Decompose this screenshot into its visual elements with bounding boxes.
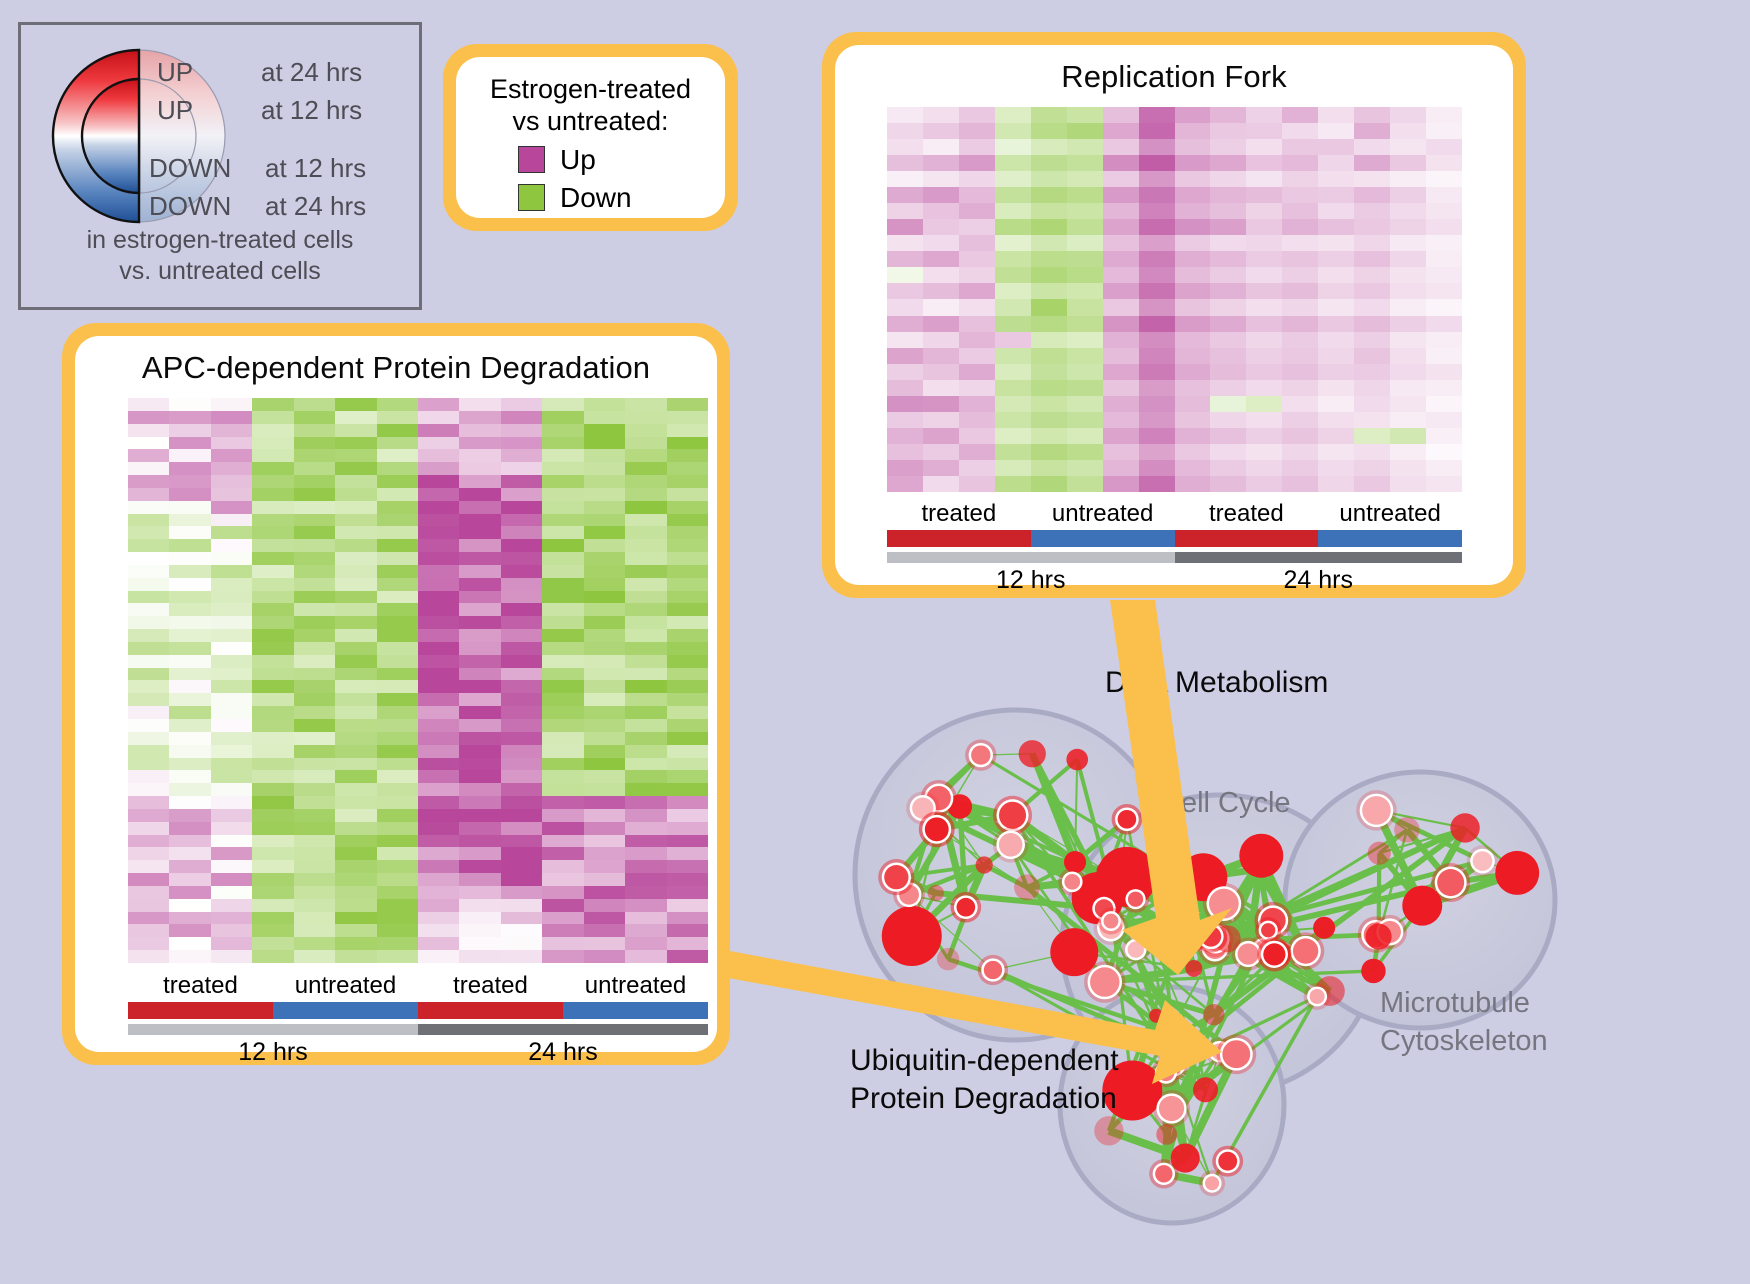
- heatmap-cell: [584, 526, 625, 539]
- heatmap-cell: [667, 835, 708, 848]
- heatmap-cell: [1210, 219, 1246, 235]
- network-node[interactable]: [1362, 796, 1391, 825]
- network-node[interactable]: [1251, 861, 1268, 878]
- heatmap-cell: [252, 924, 293, 937]
- heatmap-cell: [459, 860, 500, 873]
- heatmap-cell: [1246, 267, 1282, 283]
- timepoint-labels: 12 hrs 24 hrs: [887, 566, 1462, 595]
- heatmap-cell: [584, 616, 625, 629]
- heatmap-cell: [625, 514, 666, 527]
- heatmap-cell: [1031, 219, 1067, 235]
- heatmap-cell: [294, 411, 335, 424]
- heatmap-cell: [995, 267, 1031, 283]
- heatmap-cell: [1318, 219, 1354, 235]
- heatmap-cell: [1139, 348, 1175, 364]
- heatmap-cell: [1175, 412, 1211, 428]
- heatmap-cell: [1031, 476, 1067, 492]
- heatmap-cell: [294, 655, 335, 668]
- network-node[interactable]: [903, 920, 930, 947]
- network-node[interactable]: [1159, 1096, 1184, 1121]
- heatmap-cell: [667, 501, 708, 514]
- heatmap-cell: [335, 424, 376, 437]
- network-node[interactable]: [1394, 817, 1419, 842]
- heatmap-cell: [542, 860, 583, 873]
- heatmap-cell: [169, 526, 210, 539]
- heatmap-cell: [501, 449, 542, 462]
- heatmap-cell: [211, 847, 252, 860]
- network-node[interactable]: [976, 856, 993, 873]
- network-node[interactable]: [1366, 924, 1392, 950]
- network-node[interactable]: [971, 745, 990, 764]
- heatmap-cell: [418, 758, 459, 771]
- heatmap-cell: [1031, 123, 1067, 139]
- heatmap-cell: [1067, 203, 1103, 219]
- heatmap-cell: [418, 411, 459, 424]
- network-node[interactable]: [984, 961, 1002, 979]
- heatmap-cell: [1139, 219, 1175, 235]
- heatmap-cell: [335, 398, 376, 411]
- network-node[interactable]: [925, 817, 949, 841]
- network-node[interactable]: [1128, 941, 1144, 957]
- heatmap-cell: [1390, 219, 1426, 235]
- heatmap-cell: [1103, 299, 1139, 315]
- network-node[interactable]: [1155, 1035, 1173, 1053]
- heatmap-cell: [625, 860, 666, 873]
- network-node[interactable]: [1437, 869, 1464, 896]
- heatmap-cell: [959, 460, 995, 476]
- network-node[interactable]: [1361, 959, 1385, 983]
- heatmap-cell: [542, 501, 583, 514]
- heatmap-cell: [1318, 332, 1354, 348]
- heatmap-cell: [211, 398, 252, 411]
- heatmap-cell: [459, 693, 500, 706]
- heatmap-cell: [294, 822, 335, 835]
- network-node[interactable]: [1368, 842, 1391, 865]
- heatmap-cell: [667, 680, 708, 693]
- heatmap-cell: [1175, 299, 1211, 315]
- heatmap-cell: [377, 770, 418, 783]
- heatmap-cell: [211, 937, 252, 950]
- heatmap-cell: [252, 437, 293, 450]
- heatmap-cell: [1210, 396, 1246, 412]
- heatmap-cell: [1354, 203, 1390, 219]
- heatmap-cell: [584, 706, 625, 719]
- heatmap-cell: [377, 655, 418, 668]
- heatmap-cell: [211, 758, 252, 771]
- network-node[interactable]: [884, 865, 908, 889]
- heatmap-cell: [995, 123, 1031, 139]
- heatmap-cell: [128, 616, 169, 629]
- heatmap-cell: [1282, 460, 1318, 476]
- heatmap-cell: [584, 411, 625, 424]
- heatmap-cell: [459, 719, 500, 732]
- network-node[interactable]: [1128, 892, 1143, 907]
- heatmap-cell: [1175, 316, 1211, 332]
- heatmap-cell: [584, 886, 625, 899]
- heatmap-cell: [1354, 316, 1390, 332]
- heatmap-cell: [294, 539, 335, 552]
- heatmap-cell: [501, 591, 542, 604]
- network-node[interactable]: [1155, 1165, 1172, 1182]
- heatmap-cell: [294, 732, 335, 745]
- heatmap-cell: [887, 476, 923, 492]
- heatmap-cell: [584, 629, 625, 642]
- heatmap-cell: [667, 526, 708, 539]
- heatmap-cell: [1354, 107, 1390, 123]
- network-node[interactable]: [937, 948, 959, 970]
- heatmap-cell: [1282, 476, 1318, 492]
- heatmap-cell: [459, 924, 500, 937]
- timepoint-color-bar: [128, 1024, 708, 1035]
- heatmap-cell: [542, 770, 583, 783]
- heatmap-cell: [995, 332, 1031, 348]
- heatmap-cell: [1246, 155, 1282, 171]
- heatmap-cell: [667, 603, 708, 616]
- heatmap-cell: [1426, 444, 1462, 460]
- network-node[interactable]: [1222, 1040, 1250, 1068]
- heatmap-cell: [1246, 235, 1282, 251]
- heatmap-cell: [335, 693, 376, 706]
- heatmap-cell: [1103, 123, 1139, 139]
- heatmap-cell: [887, 283, 923, 299]
- network-node[interactable]: [1156, 1124, 1177, 1145]
- heatmap-cell: [995, 316, 1031, 332]
- heatmap-cell: [959, 412, 995, 428]
- heatmap-cell: [887, 203, 923, 219]
- network-node[interactable]: [1104, 914, 1119, 929]
- heatmap-cell: [294, 924, 335, 937]
- heatmap-cell: [625, 796, 666, 809]
- heatmap-cell: [1318, 460, 1354, 476]
- heatmap-cell: [1210, 380, 1246, 396]
- heatmap-cell: [252, 732, 293, 745]
- condition-labels: treated untreated treated untreated: [887, 500, 1462, 528]
- heatmap-cell: [959, 235, 995, 251]
- network-node[interactable]: [957, 898, 976, 917]
- heatmap-cell: [995, 396, 1031, 412]
- heatmap-cell: [1175, 235, 1211, 251]
- heatmap-cell: [335, 783, 376, 796]
- heatmap-cell: [887, 364, 923, 380]
- heatmap-cell: [542, 732, 583, 745]
- heatmap-cell: [1175, 364, 1211, 380]
- heatmap-cell: [542, 526, 583, 539]
- heatmap-cell: [1139, 171, 1175, 187]
- heatmap-cell: [1282, 348, 1318, 364]
- cluster-label-ubiquitin: Ubiquitin-dependent: [850, 1044, 1119, 1077]
- heatmap-cell: [1103, 283, 1139, 299]
- network-node[interactable]: [1238, 943, 1259, 964]
- condition-label-1: untreated: [1031, 500, 1175, 528]
- heatmap-cell: [211, 616, 252, 629]
- heatmap-cell: [169, 899, 210, 912]
- heatmap-cell: [459, 706, 500, 719]
- heatmap-cell: [211, 449, 252, 462]
- network-node[interactable]: [1064, 874, 1080, 890]
- network-node[interactable]: [999, 802, 1026, 829]
- heatmap-cell: [995, 187, 1031, 203]
- heatmap-cell: [584, 437, 625, 450]
- heatmap-cell: [459, 783, 500, 796]
- network-node[interactable]: [1293, 938, 1318, 963]
- heatmap-cell: [252, 745, 293, 758]
- heatmap-cell: [542, 899, 583, 912]
- heatmap-cell: [887, 316, 923, 332]
- heatmap-cell: [1390, 139, 1426, 155]
- network-node[interactable]: [1090, 967, 1119, 996]
- heatmap-cell: [1067, 251, 1103, 267]
- heatmap-cell: [542, 398, 583, 411]
- network-node[interactable]: [1019, 740, 1046, 767]
- heatmap-cell: [542, 668, 583, 681]
- heatmap-cell: [887, 267, 923, 283]
- condition-label-0: treated: [887, 500, 1031, 528]
- legend-key-down-label: Down: [560, 182, 632, 214]
- heatmap-cell: [418, 552, 459, 565]
- heatmap-cell: [1318, 364, 1354, 380]
- heatmap-cell: [1031, 155, 1067, 171]
- network-node[interactable]: [928, 885, 944, 901]
- network-node[interactable]: [1161, 871, 1181, 891]
- heatmap-cell: [294, 488, 335, 501]
- heatmap-cell: [294, 873, 335, 886]
- heatmap-cell: [1139, 187, 1175, 203]
- heatmap-cell: [1031, 235, 1067, 251]
- heatmap-cell: [584, 424, 625, 437]
- heatmap-cell: [625, 488, 666, 501]
- network-node[interactable]: [1149, 1009, 1163, 1023]
- network-node[interactable]: [1171, 1143, 1200, 1172]
- network-node[interactable]: [1473, 851, 1493, 871]
- heatmap-cell: [459, 539, 500, 552]
- heatmap-cell: [377, 462, 418, 475]
- heatmap-cell: [1175, 155, 1211, 171]
- heatmap-cell: [459, 398, 500, 411]
- heatmap-cell: [335, 924, 376, 937]
- heatmap-cell: [1067, 283, 1103, 299]
- heatmap-cell: [128, 462, 169, 475]
- network-node[interactable]: [1149, 929, 1177, 957]
- network-node[interactable]: [999, 833, 1023, 857]
- network-node[interactable]: [1313, 917, 1335, 939]
- heatmap-cell: [959, 187, 995, 203]
- heatmap-cell: [294, 899, 335, 912]
- heatmap-cell: [459, 873, 500, 886]
- heatmap-cell: [923, 348, 959, 364]
- heatmap-cell: [335, 680, 376, 693]
- heatmap-cell: [1282, 332, 1318, 348]
- heatmap-cell: [252, 822, 293, 835]
- heatmap-cell: [501, 758, 542, 771]
- network-node[interactable]: [1157, 1064, 1174, 1081]
- heatmap-cell: [887, 219, 923, 235]
- heatmap-cell: [1103, 155, 1139, 171]
- heatmap-cell: [377, 886, 418, 899]
- heatmap-cell: [1390, 235, 1426, 251]
- heatmap-cell: [584, 770, 625, 783]
- network-node[interactable]: [1193, 1077, 1218, 1102]
- heatmap-cell: [252, 860, 293, 873]
- heatmap-cell: [1318, 380, 1354, 396]
- network-node[interactable]: [1066, 749, 1088, 771]
- heatmap-cell: [542, 706, 583, 719]
- heatmap-cell: [1246, 428, 1282, 444]
- network-node[interactable]: [1185, 960, 1202, 977]
- heatmap-cell: [294, 475, 335, 488]
- heatmap-cell: [211, 565, 252, 578]
- heatmap-cell: [335, 629, 376, 642]
- heatmap-cell: [1103, 203, 1139, 219]
- heatmap-cell: [1426, 107, 1462, 123]
- heatmap-cell: [128, 822, 169, 835]
- heatmap-cell: [335, 950, 376, 963]
- network-node[interactable]: [1118, 810, 1137, 829]
- heatmap-cell: [377, 693, 418, 706]
- network-node[interactable]: [1014, 874, 1040, 900]
- legend-footer-line2: vs. untreated cells: [21, 256, 419, 287]
- network-node[interactable]: [1191, 1045, 1206, 1060]
- heatmap-cell: [335, 475, 376, 488]
- heatmap-cell: [459, 449, 500, 462]
- heatmap-cell: [625, 578, 666, 591]
- heatmap-cell: [923, 123, 959, 139]
- heatmap-cell: [252, 796, 293, 809]
- timepoint-labels: 12 hrs 24 hrs: [128, 1038, 708, 1067]
- heatmap-cell: [1175, 219, 1211, 235]
- network-node[interactable]: [1205, 1176, 1219, 1190]
- heatmap-cell: [1426, 251, 1462, 267]
- heatmap-cell: [923, 251, 959, 267]
- heatmap-cell: [1390, 107, 1426, 123]
- heatmap-cell: [1318, 203, 1354, 219]
- heatmap-cell: [377, 603, 418, 616]
- heatmap-cell: [418, 937, 459, 950]
- heatmap-cell: [128, 591, 169, 604]
- heatmap-cell: [542, 796, 583, 809]
- heatmap-cell: [584, 809, 625, 822]
- heatmap-cell: [1031, 332, 1067, 348]
- heatmap-cell: [1139, 444, 1175, 460]
- heatmap-cell: [1210, 283, 1246, 299]
- heatmap-cell: [294, 668, 335, 681]
- heatmap-cell: [1031, 460, 1067, 476]
- heatmap-cell: [959, 267, 995, 283]
- heatmap-axis-apc: treated untreated treated untreated 12 h…: [128, 972, 708, 1067]
- heatmap-cell: [128, 680, 169, 693]
- heatmap-cell: [667, 475, 708, 488]
- heatmap-cell: [128, 783, 169, 796]
- heatmap-cell: [128, 475, 169, 488]
- heatmap-cell: [335, 462, 376, 475]
- heatmap-cell: [959, 123, 995, 139]
- heatmap-cell: [1354, 219, 1390, 235]
- legend-ring-3-time: at 24 hrs: [265, 191, 366, 222]
- heatmap-cell: [542, 424, 583, 437]
- heatmap-cell: [294, 501, 335, 514]
- heatmap-cell: [1175, 348, 1211, 364]
- heatmap-cell: [377, 642, 418, 655]
- heatmap-cell: [959, 107, 995, 123]
- heatmap-cell: [252, 449, 293, 462]
- network-node[interactable]: [1203, 1004, 1224, 1025]
- heatmap-cell: [128, 770, 169, 783]
- heatmap-cell: [169, 462, 210, 475]
- heatmap-cell: [128, 603, 169, 616]
- network-node[interactable]: [1094, 1116, 1123, 1145]
- heatmap-cell: [294, 950, 335, 963]
- heatmap-cell: [1210, 476, 1246, 492]
- heatmap-cell: [418, 424, 459, 437]
- heatmap-cell: [1282, 251, 1318, 267]
- heatmap-cell: [542, 886, 583, 899]
- heatmap-cell: [418, 616, 459, 629]
- network-node[interactable]: [1209, 889, 1239, 919]
- heatmap-cell: [1282, 380, 1318, 396]
- network-node[interactable]: [1201, 926, 1221, 946]
- heatmap-cell: [418, 924, 459, 937]
- network-node[interactable]: [1218, 1152, 1237, 1171]
- heatmap-cell: [377, 565, 418, 578]
- network-node[interactable]: [1263, 943, 1285, 965]
- heatmap-cell: [995, 380, 1031, 396]
- heatmap-cell: [1067, 171, 1103, 187]
- heatmap-cell: [625, 475, 666, 488]
- heatmap-cell: [418, 565, 459, 578]
- heatmap-cell: [459, 514, 500, 527]
- heatmap-cell: [667, 539, 708, 552]
- heatmap-cell: [252, 603, 293, 616]
- network-node[interactable]: [1261, 923, 1275, 937]
- heatmap-cell: [294, 514, 335, 527]
- heatmap-cell: [128, 629, 169, 642]
- heatmap-cell: [169, 680, 210, 693]
- heatmap-cell: [1067, 139, 1103, 155]
- heatmap-cell: [1354, 267, 1390, 283]
- heatmap-cell: [1426, 299, 1462, 315]
- heatmap-cell: [377, 937, 418, 950]
- heatmap-cell: [995, 107, 1031, 123]
- heatmap-cell: [1282, 299, 1318, 315]
- heatmap-cell: [667, 899, 708, 912]
- heatmap-cell: [169, 655, 210, 668]
- heatmap-cell: [1067, 187, 1103, 203]
- heatmap-cell: [1175, 107, 1211, 123]
- heatmap-cell: [1139, 139, 1175, 155]
- network-node[interactable]: [1310, 989, 1325, 1004]
- heatmap-cell: [252, 680, 293, 693]
- heatmap-cell: [1390, 396, 1426, 412]
- heatmap-cell: [252, 835, 293, 848]
- heatmap-cell: [1426, 235, 1462, 251]
- heatmap-cell: [667, 950, 708, 963]
- network-node[interactable]: [1450, 813, 1479, 842]
- heatmap-cell: [887, 155, 923, 171]
- heatmap-cell: [169, 424, 210, 437]
- heatmap-cell: [459, 937, 500, 950]
- heatmap-cell: [584, 514, 625, 527]
- heatmap-cell: [418, 860, 459, 873]
- network-node[interactable]: [1495, 851, 1539, 895]
- heatmap-cell: [501, 514, 542, 527]
- heatmap-cell: [1246, 348, 1282, 364]
- heatmap-cell: [1175, 267, 1211, 283]
- heatmap-cell: [1390, 171, 1426, 187]
- heatmap-cell: [377, 796, 418, 809]
- heatmap-cell: [584, 398, 625, 411]
- heatmap-cell: [211, 526, 252, 539]
- pathway-network: DNA Metabolism Cell Cycle Microtubule Cy…: [760, 600, 1750, 1279]
- heatmap-cell: [252, 526, 293, 539]
